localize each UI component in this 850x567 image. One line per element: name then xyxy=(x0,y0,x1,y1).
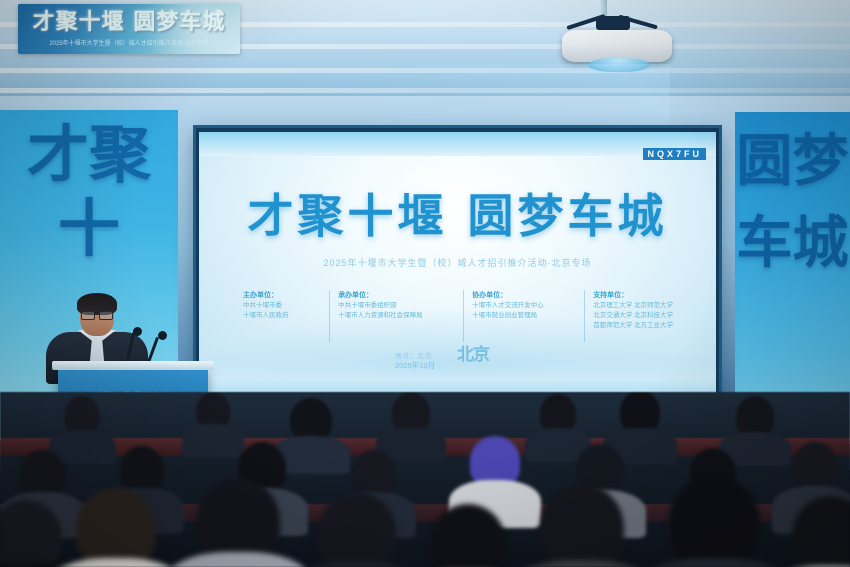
organizer-line: 十堰市人民政府 xyxy=(243,311,289,321)
organizer-heading: 承办单位： xyxy=(338,290,423,301)
organizer-columns: 主办单位： 中共十堰市委 十堰市人民政府 承办单位： 中共十堰市委组织部 十堰市… xyxy=(243,290,673,342)
audience-head xyxy=(120,446,164,494)
audience-head xyxy=(540,394,576,434)
organizer-line: 北京理工大学 北京师范大学 xyxy=(593,301,673,311)
audience-shoulders xyxy=(46,558,186,567)
podium-top-surface xyxy=(52,361,214,370)
audience-head xyxy=(318,492,396,567)
audience-head xyxy=(196,392,230,430)
seal-location-label: 地点：北京 xyxy=(395,350,433,360)
audience-shoulders xyxy=(633,558,795,567)
organizer-line: 十堰市人力资源和社会保障局 xyxy=(338,311,423,321)
audience-shoulders xyxy=(182,424,244,458)
audience-head xyxy=(392,392,430,434)
screen-watermark: NQX7FU xyxy=(643,148,706,160)
organizer-line: 中共十堰市委 xyxy=(243,301,289,311)
ceiling-slat xyxy=(0,88,850,93)
organizer-heading: 支持单位： xyxy=(593,290,673,301)
organizer-heading: 协办单位： xyxy=(472,290,544,301)
organizer-column-supporters: 支持单位： 北京理工大学 北京师范大学 北京交通大学 北京科技大学 首都师范大学… xyxy=(584,290,673,342)
projection-screen-frame: NQX7FU 才聚十堰 圆梦车城 2025年十堰市大学生暨（校）城人才招引推介活… xyxy=(196,128,719,400)
audience-head xyxy=(792,442,838,492)
audience-head xyxy=(668,476,760,567)
audience-area xyxy=(0,392,850,567)
top-wall-banner: 才聚十堰 圆梦车城 2025年十堰市大学生暨（校）城人才招引推介活动·北京专场 xyxy=(18,4,240,54)
audience-shoulders xyxy=(287,562,427,567)
top-banner-subtitle: 2025年十堰市大学生暨（校）城人才招引推介活动·北京专场 xyxy=(24,38,234,50)
audience-head xyxy=(196,478,280,564)
glasses-lens xyxy=(81,311,95,320)
organizer-line: 首都师范大学 北方工业大学 xyxy=(593,321,673,331)
speaker-glasses xyxy=(81,311,113,318)
bracket-hub xyxy=(596,16,630,30)
right-banner-text: 圆梦车城 xyxy=(735,120,850,284)
screen-top-band xyxy=(199,132,716,156)
seal-date: 2025年10月 xyxy=(395,360,435,371)
organizer-column-coorganizer: 协办单位： 十堰市人才交流开发中心 十堰市就业创业管理局 xyxy=(463,290,544,342)
audience-head xyxy=(20,450,66,498)
projection-screen: NQX7FU 才聚十堰 圆梦车城 2025年十堰市大学生暨（校）城人才招引推介活… xyxy=(199,132,716,396)
audience-head xyxy=(736,396,774,438)
organizer-line: 十堰市人才交流开发中心 xyxy=(472,301,544,311)
audience-head xyxy=(76,488,156,567)
audience-shoulders xyxy=(507,560,657,567)
audience-head xyxy=(64,396,100,436)
ceiling-slat xyxy=(0,68,850,73)
audience-head-purple-hat xyxy=(470,436,520,486)
organizer-line: 十堰市就业创业管理局 xyxy=(472,311,544,321)
slide-title: 才聚十堰 圆梦车城 xyxy=(199,190,716,242)
organizer-heading: 主办单位： xyxy=(243,290,289,301)
organizer-line: 中共十堰市委组织部 xyxy=(338,301,423,311)
microphone-head xyxy=(133,327,142,336)
seal-stamp: 北京 xyxy=(457,346,489,364)
projector-lens-glow xyxy=(588,58,650,72)
left-banner-text: 才聚十 xyxy=(0,118,178,266)
audience-shoulders xyxy=(164,552,312,567)
conference-hall-photo: 才聚十堰 圆梦车城 2025年十堰市大学生暨（校）城人才招引推介活动·北京专场 … xyxy=(0,0,850,567)
organizer-column-host: 主办单位： 中共十堰市委 十堰市人民政府 xyxy=(243,290,289,342)
audience-head xyxy=(620,392,660,434)
top-banner-title: 才聚十堰 圆梦车城 xyxy=(26,8,232,36)
audience-head xyxy=(352,450,396,498)
microphone-head xyxy=(158,331,167,340)
organizer-column-undertaker: 承办单位： 中共十堰市委组织部 十堰市人力资源和社会保障局 xyxy=(329,290,423,342)
slide-subtitle: 2025年十堰市大学生暨（校）城人才招引推介活动·北京专场 xyxy=(199,256,716,269)
audience-head xyxy=(290,398,332,442)
audience-head xyxy=(540,484,624,567)
organizer-line: 北京交通大学 北京科技大学 xyxy=(593,311,673,321)
slide-date-seal: 地点：北京 2025年10月 北京 xyxy=(395,350,515,384)
glasses-lens xyxy=(99,311,113,320)
